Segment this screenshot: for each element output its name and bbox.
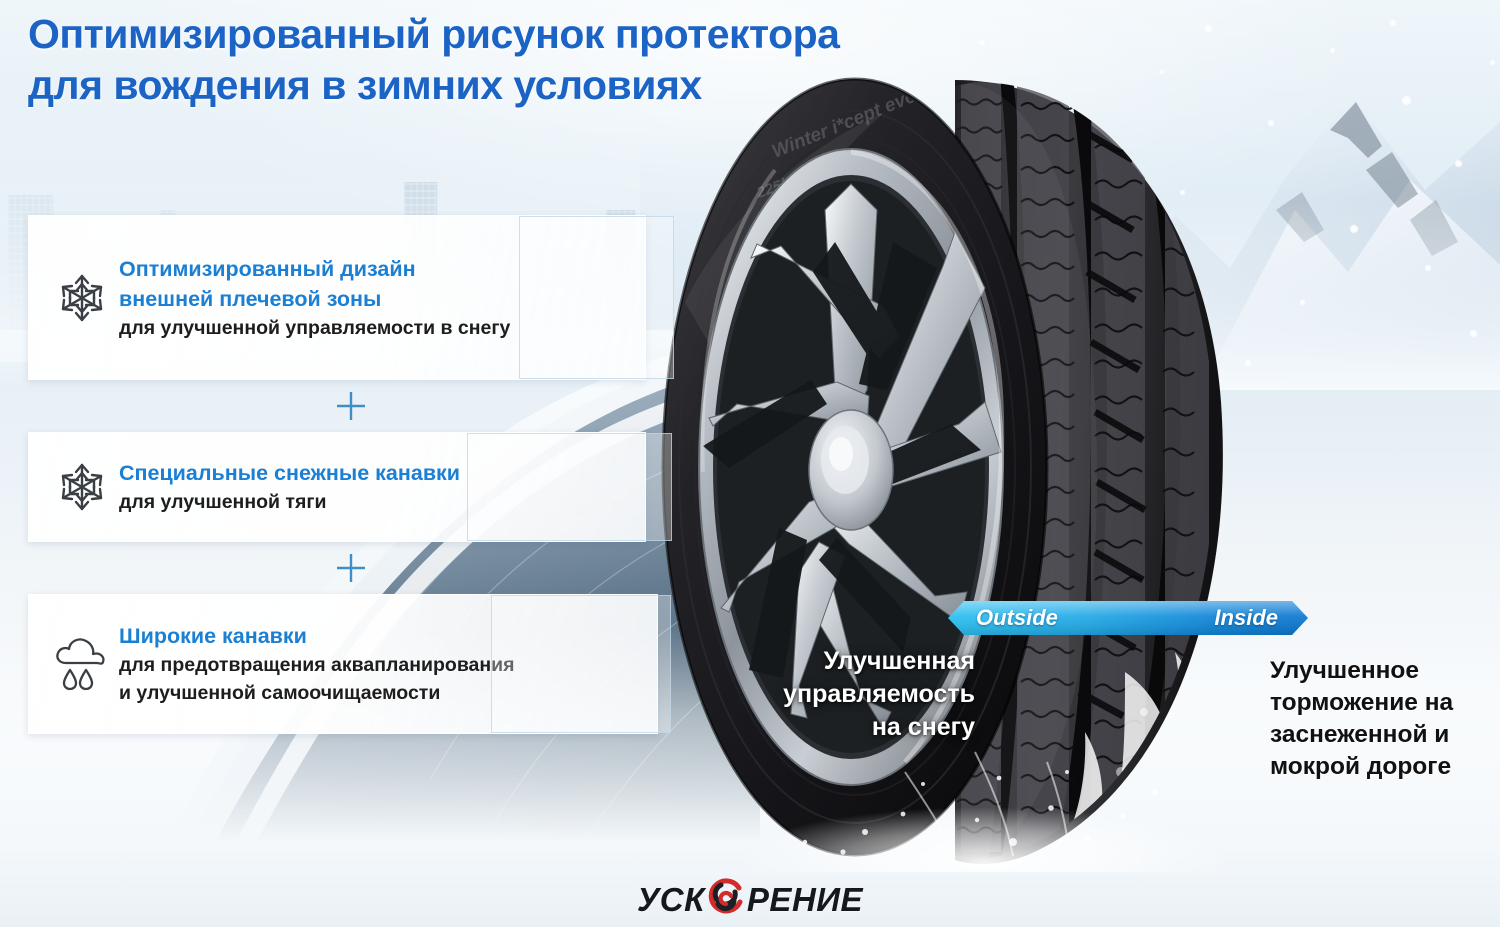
snow-handling-line-1: Улучшенная xyxy=(760,645,975,678)
winter-tire-photo: Winter i*cept evo2 225/40R18 95V xyxy=(655,72,1355,872)
feature-heading-line-1: Специальные снежные канавки xyxy=(119,458,460,488)
feature-heading-line-1: Широкие канавки xyxy=(119,621,515,651)
outside-inside-banner: Outside Inside xyxy=(948,597,1308,639)
poster-canvas: Winter i*cept evo2 225/40R18 95V xyxy=(0,0,1500,927)
snow-handling-line-3: на снегу xyxy=(760,711,975,744)
logo-text-right: РЕНИЕ xyxy=(747,881,863,919)
logo-text-left: УСК xyxy=(637,881,705,919)
braking-callout: Улучшенное торможение на заснеженной и м… xyxy=(1270,655,1500,783)
feature-texts: Специальные снежные канавки для улучшенн… xyxy=(113,458,460,516)
snowflake-icon xyxy=(51,271,113,325)
banner-outside-label: Outside xyxy=(976,597,1058,639)
feature-texts: Широкие канавки для предотвращения аквап… xyxy=(113,621,515,707)
title-line-1: Оптимизированный рисунок протектора xyxy=(28,8,1038,60)
braking-line-2: торможение на xyxy=(1270,687,1500,719)
separator-plus-1 xyxy=(28,380,674,432)
snowflake-icon xyxy=(51,460,113,514)
feature-subtext-line-1: для улучшенной управляемости в снегу xyxy=(119,314,510,342)
feature-card-shoulder-design[interactable]: Оптимизированный дизайн внешней плечевой… xyxy=(28,215,646,380)
rain-cloud-icon xyxy=(51,635,113,693)
braking-line-3: заснеженной и xyxy=(1270,719,1500,751)
feature-heading-line-1: Оптимизированный дизайн xyxy=(119,254,510,284)
feature-heading-line-2: внешней плечевой зоны xyxy=(119,284,510,314)
feature-subtext-line-2: и улучшенной самоочищаемости xyxy=(119,679,515,707)
feature-subtext-line-1: для предотвращения аквапланирования xyxy=(119,651,515,679)
title-line-2: для вождения в зимних условиях xyxy=(28,60,1038,110)
snow-handling-callout: Улучшенная управляемость на снегу xyxy=(760,645,975,744)
banner-inside-label: Inside xyxy=(1214,597,1278,639)
feature-card-snow-grooves[interactable]: Специальные снежные канавки для улучшенн… xyxy=(28,432,646,542)
card-ghost-edge xyxy=(467,433,672,541)
feature-card-wide-grooves[interactable]: Широкие канавки для предотвращения аквап… xyxy=(28,594,658,734)
snow-handling-line-2: управляемость xyxy=(760,678,975,711)
separator-plus-2 xyxy=(28,542,674,594)
card-ghost-edge xyxy=(519,216,674,379)
card-ghost-edge xyxy=(491,595,671,733)
feature-texts: Оптимизированный дизайн внешней плечевой… xyxy=(113,254,510,342)
braking-line-4: мокрой дороге xyxy=(1270,751,1500,783)
braking-line-1: Улучшенное xyxy=(1270,655,1500,687)
swirl-logo-icon xyxy=(706,877,746,922)
feature-subtext-line-1: для улучшенной тяги xyxy=(119,488,460,516)
feature-card-list: Оптимизированный дизайн внешней плечевой… xyxy=(0,215,674,734)
brand-logo[interactable]: УСК РЕНИЕ xyxy=(0,877,1500,922)
page-title: Оптимизированный рисунок протектора для … xyxy=(28,8,1038,110)
